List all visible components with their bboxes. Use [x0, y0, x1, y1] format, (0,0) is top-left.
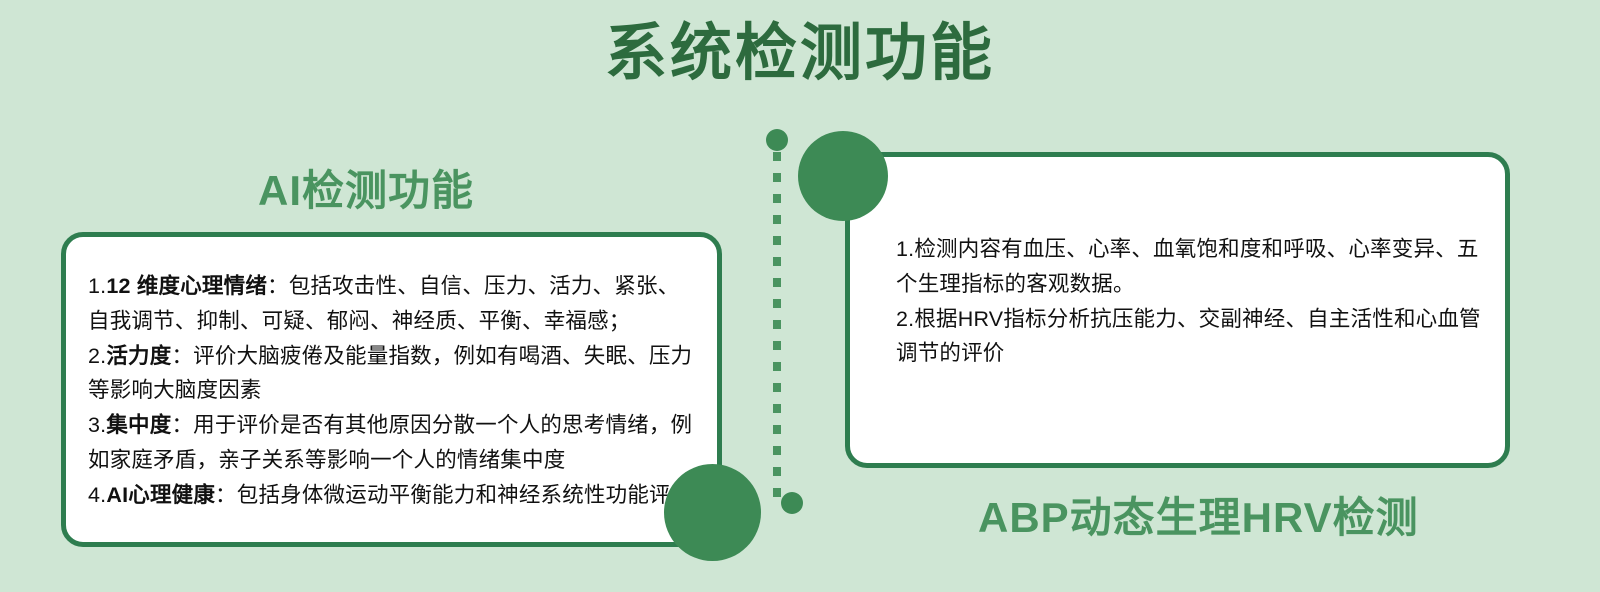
circle-left-decoration: [664, 464, 761, 561]
item-separator: ：: [215, 483, 237, 507]
item-term: 12 维度心理情绪: [106, 274, 267, 298]
item-number: 2.: [88, 344, 106, 368]
infographic-root: 系统检测功能 1.12 维度心理情绪：包括攻击性、自信、压力、活力、紧张、自我调…: [0, 0, 1600, 592]
circle-right-decoration: [798, 131, 888, 221]
list-item: 1.12 维度心理情绪：包括攻击性、自信、压力、活力、紧张、自我调节、抑制、可疑…: [88, 269, 699, 339]
item-text: 根据HRV指标分析抗压能力、交副神经、自主活性和心血管调节的评价: [896, 307, 1481, 366]
list-item: 3.集中度：用于评价是否有其他原因分散一个人的思考情绪，例如家庭矛盾，亲子关系等…: [88, 408, 699, 478]
item-number: 2.: [896, 307, 914, 331]
list-item: 2.活力度：评价大脑疲倦及能量指数，例如有喝酒、失眠、压力等影响大脑度因素: [88, 339, 699, 409]
item-separator: ：: [171, 413, 193, 437]
item-text: 检测内容有血压、心率、血氧饱和度和呼吸、心率变异、五个生理指标的客观数据。: [896, 237, 1479, 296]
dashed-connector-line: [773, 152, 781, 497]
list-item: 2.根据HRV指标分析抗压能力、交副神经、自主活性和心血管调节的评价: [896, 302, 1481, 372]
ai-detection-card: 1.12 维度心理情绪：包括攻击性、自信、压力、活力、紧张、自我调节、抑制、可疑…: [61, 232, 722, 547]
ai-detection-card-body: 1.12 维度心理情绪：包括攻击性、自信、压力、活力、紧张、自我调节、抑制、可疑…: [66, 237, 717, 513]
list-item: 4.AI心理健康：包括身体微运动平衡能力和神经系统性功能评价: [88, 478, 699, 513]
section-heading-abp-hrv: ABP动态生理HRV检测: [978, 484, 1419, 545]
item-number: 3.: [88, 413, 106, 437]
item-number: 1.: [88, 274, 106, 298]
page-title: 系统检测功能: [0, 18, 1600, 89]
item-number: 4.: [88, 483, 106, 507]
section-heading-ai-detection: AI检测功能: [258, 157, 474, 218]
dot-bottom-icon: [781, 492, 803, 514]
dot-top-icon: [766, 129, 788, 151]
list-item: 1.检测内容有血压、心率、血氧饱和度和呼吸、心率变异、五个生理指标的客观数据。: [896, 232, 1481, 302]
item-separator: ：: [267, 274, 289, 298]
abp-hrv-card: 1.检测内容有血压、心率、血氧饱和度和呼吸、心率变异、五个生理指标的客观数据。 …: [845, 152, 1510, 468]
item-separator: ：: [171, 344, 193, 368]
item-description: 包括身体微运动平衡能力和神经系统性功能评价: [237, 483, 693, 507]
item-term: AI心理健康: [106, 483, 215, 507]
abp-hrv-card-body: 1.检测内容有血压、心率、血氧饱和度和呼吸、心率变异、五个生理指标的客观数据。 …: [850, 157, 1505, 371]
item-term: 集中度: [106, 413, 171, 437]
item-term: 活力度: [106, 344, 171, 368]
item-number: 1.: [896, 237, 914, 261]
